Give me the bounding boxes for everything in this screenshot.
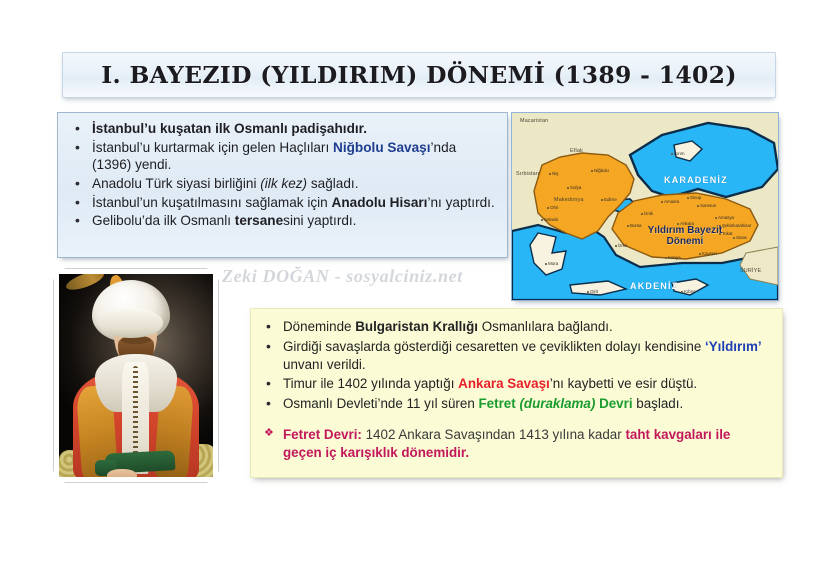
portrait-turban-band — [99, 308, 163, 338]
blue-bullet-item-2-span-2: sağladı. — [307, 176, 358, 191]
blue-bullet-item-3-span-0: İstanbul’un kuşatılmasını sağlamak için — [92, 195, 332, 210]
map-city-dot — [587, 291, 589, 293]
yellow-bullet-item-1-span-1: ‘Yıldırım’ — [705, 339, 762, 354]
map-city-label-girit: Girit — [590, 289, 598, 294]
map-image: Yıldırım BayezitDönemi KARADENİZAKDENİZM… — [511, 112, 779, 301]
fetret-devri-definition: Fetret Devri: 1402 Ankara Savaşından 141… — [261, 426, 772, 462]
map-city-label-sinop: Sinop — [690, 195, 701, 200]
map-region-label-suri-ye: SURİYE — [740, 268, 761, 274]
yellow-bullet-item: Timur ile 1402 yılında yaptığı Ankara Sa… — [261, 375, 772, 393]
map-city-dot — [677, 223, 679, 225]
map-city-label-samsun: Samsun — [700, 203, 716, 208]
fetret-devri-term: Fetret Devri: — [283, 427, 362, 442]
yellow-bullet-item-2-span-1: Ankara Savaşı — [458, 376, 550, 391]
map-city-label-tokat: Tokat — [722, 231, 732, 236]
yellow-bullet-item-3-span-3: Devri — [595, 396, 632, 411]
map-region-label-makedonya: Makedonya — [554, 197, 584, 203]
map-city-label-selanik: Selanik — [544, 217, 558, 222]
yellow-bullet-item-1-span-2: unvanı verildi. — [283, 357, 366, 372]
blue-bullet-list: İstanbul’u kuşatan ilk Osmanlı padişahıd… — [70, 120, 497, 230]
map-sea-label-karadeni-z: KARADENİZ — [664, 175, 728, 185]
map-city-label-amasra: Amasra — [664, 199, 679, 204]
yellow-bullet-item: Osmanlı Devleti’nde 11 yıl süren Fetret … — [261, 395, 772, 413]
portrait-plume-accent — [64, 274, 106, 293]
blue-bullet-item-2-span-0: Anadolu Türk siyasi birliğini — [92, 176, 260, 191]
yellow-bullet-item: Döneminde Bulgaristan Krallığı Osmanlıla… — [261, 318, 772, 336]
blue-bullet-item-2-span-1: (ilk kez) — [260, 176, 307, 191]
yellow-bullet-item-3-span-1: Fetret — [479, 396, 520, 411]
map-region-label-macaristan: Macaristan — [520, 118, 548, 124]
blue-bullet-item: Anadolu Türk siyasi birliğini (ilk kez) … — [70, 175, 497, 193]
sultan-portrait-image — [59, 274, 213, 477]
map-city-dot — [641, 213, 643, 215]
map-region-label-eflak: Eflak — [570, 148, 583, 154]
yellow-bullet-item-2-span-0: Timur ile 1402 yılında yaptığı — [283, 376, 458, 391]
blue-bullet-item-4-span-1: tersane — [235, 213, 283, 228]
map-city-dot — [719, 233, 721, 235]
blue-bullet-item-1-span-1: Niğbolu Savaşı — [333, 140, 430, 155]
map-city-dot — [699, 253, 701, 255]
map-city-dot — [661, 201, 663, 203]
map-city-dot — [687, 197, 689, 199]
blue-bullet-item: İstanbul’un kuşatılmasını sağlamak için … — [70, 194, 497, 212]
map-city-dot — [541, 219, 543, 221]
map-city-label-i-znik: İznik — [644, 211, 653, 216]
map-city-dot — [665, 257, 667, 259]
map-city-dot — [547, 207, 549, 209]
map-city-label-edirne: Edirne — [604, 197, 617, 202]
map-city-dot — [549, 173, 551, 175]
map-city-dot — [733, 237, 735, 239]
blue-bullet-item-1-span-0: İstanbul’u kurtarmak için gelen Haçlılar… — [92, 140, 333, 155]
map-city-label-sofya: Sofya — [570, 185, 581, 190]
map-city-dot — [615, 245, 617, 247]
map-city-label-ni-: Niş — [552, 171, 558, 176]
blue-bullet-item: Gelibolu’da ilk Osmanlı tersanesini yapt… — [70, 212, 497, 230]
map-city-label-k-br-s: Kıbrıs — [684, 289, 695, 294]
map-city-label-konya: Konya — [668, 255, 681, 260]
watermark-text: Zeki DOĞAN - sosyalciniz.net — [222, 266, 463, 287]
map-city-label-mora: Mora — [548, 261, 558, 266]
map-city-dot — [681, 291, 683, 293]
fetret-devri-body-1: 1402 Ankara Savaşından 1413 yılına kadar — [362, 427, 626, 442]
yellow-bullet-item: Girdiği savaşlarda gösterdiği cesaretten… — [261, 338, 772, 374]
yellow-bullet-list: Döneminde Bulgaristan Krallığı Osmanlıla… — [261, 318, 772, 413]
yellow-bullet-item-2-span-2: ’nı kaybetti ve esir düştü. — [550, 376, 697, 391]
yellow-bullet-item-0-span-2: Osmanlılara bağlandı. — [478, 319, 613, 334]
map-city-label-ni-bolu: Niğbolu — [594, 168, 609, 173]
yellow-bullet-item-3-span-2: (duraklama) — [519, 396, 595, 411]
map-city-label-i-zmir: İzmir — [618, 243, 627, 248]
blue-bullet-item-3-span-2: ’nı yaptırdı. — [427, 195, 494, 210]
blue-bullet-item-0-span-0: İstanbul’u kuşatan ilk Osmanlı padişahıd… — [92, 121, 367, 136]
sultan-portrait-frame — [53, 268, 219, 483]
map-title: Yıldırım BayezitDönemi — [630, 225, 740, 247]
map-city-dot — [671, 153, 673, 155]
map-city-dot — [627, 225, 629, 227]
map-city-dot — [601, 199, 603, 201]
blue-bullet-item-4-span-0: Gelibolu’da ilk Osmanlı — [92, 213, 235, 228]
portrait-hand — [107, 469, 137, 477]
blue-bullet-item-4-span-2: sini yaptırdı. — [283, 213, 356, 228]
map-city-dot — [567, 187, 569, 189]
slide-title-banner: I. BAYEZID (YILDIRIM) DÖNEMİ (1389 - 140… — [62, 52, 776, 98]
blue-bullet-item-3-span-1: Anadolu Hisarı — [332, 195, 428, 210]
map-city-dot — [715, 217, 717, 219]
yellow-bullet-item-3-span-4: başladı. — [633, 396, 684, 411]
map-city-dot — [591, 170, 593, 172]
map-city-label-k-r-m: Kırım — [674, 151, 684, 156]
page-title: I. BAYEZID (YILDIRIM) DÖNEMİ (1389 - 140… — [101, 61, 737, 89]
map-city-label-ohri: Ohri — [550, 205, 558, 210]
map-city-label-bursa: Bursa — [630, 223, 642, 228]
map-sea-label-akdeni-z: AKDENİZ — [630, 281, 678, 291]
map-title-line-2: Dönemi — [630, 236, 740, 247]
blue-bullet-item: İstanbul’u kuşatan ilk Osmanlı padişahıd… — [70, 120, 497, 138]
blue-facts-box: İstanbul’u kuşatan ilk Osmanlı padişahıd… — [57, 112, 508, 258]
map-city-dot — [545, 263, 547, 265]
map-city-label-sivas: Sivas — [736, 235, 747, 240]
map-city-dot — [719, 225, 721, 227]
map-city-label-ankara: Ankara — [680, 221, 694, 226]
yellow-bullet-item-1-span-0: Girdiği savaşlarda gösterdiği cesaretten… — [283, 339, 705, 354]
blue-bullet-item: İstanbul’u kurtarmak için gelen Haçlılar… — [70, 139, 497, 174]
map-city-dot — [697, 205, 699, 207]
map-city-label-amasya: Amasya — [718, 215, 734, 220]
map-city-label--ebinkarahisar: Şebinkarahisar — [722, 223, 751, 228]
map-city-label-kayseri: Kayseri — [702, 251, 717, 256]
map-region-label-s-rbistan: Sırbistan — [516, 171, 539, 177]
yellow-bullet-item-0-span-0: Döneminde — [283, 319, 355, 334]
yellow-bullet-item-0-span-1: Bulgaristan Krallığı — [355, 319, 478, 334]
yellow-bullet-item-3-span-0: Osmanlı Devleti’nde 11 yıl süren — [283, 396, 479, 411]
yellow-facts-box: Döneminde Bulgaristan Krallığı Osmanlıla… — [250, 308, 783, 478]
